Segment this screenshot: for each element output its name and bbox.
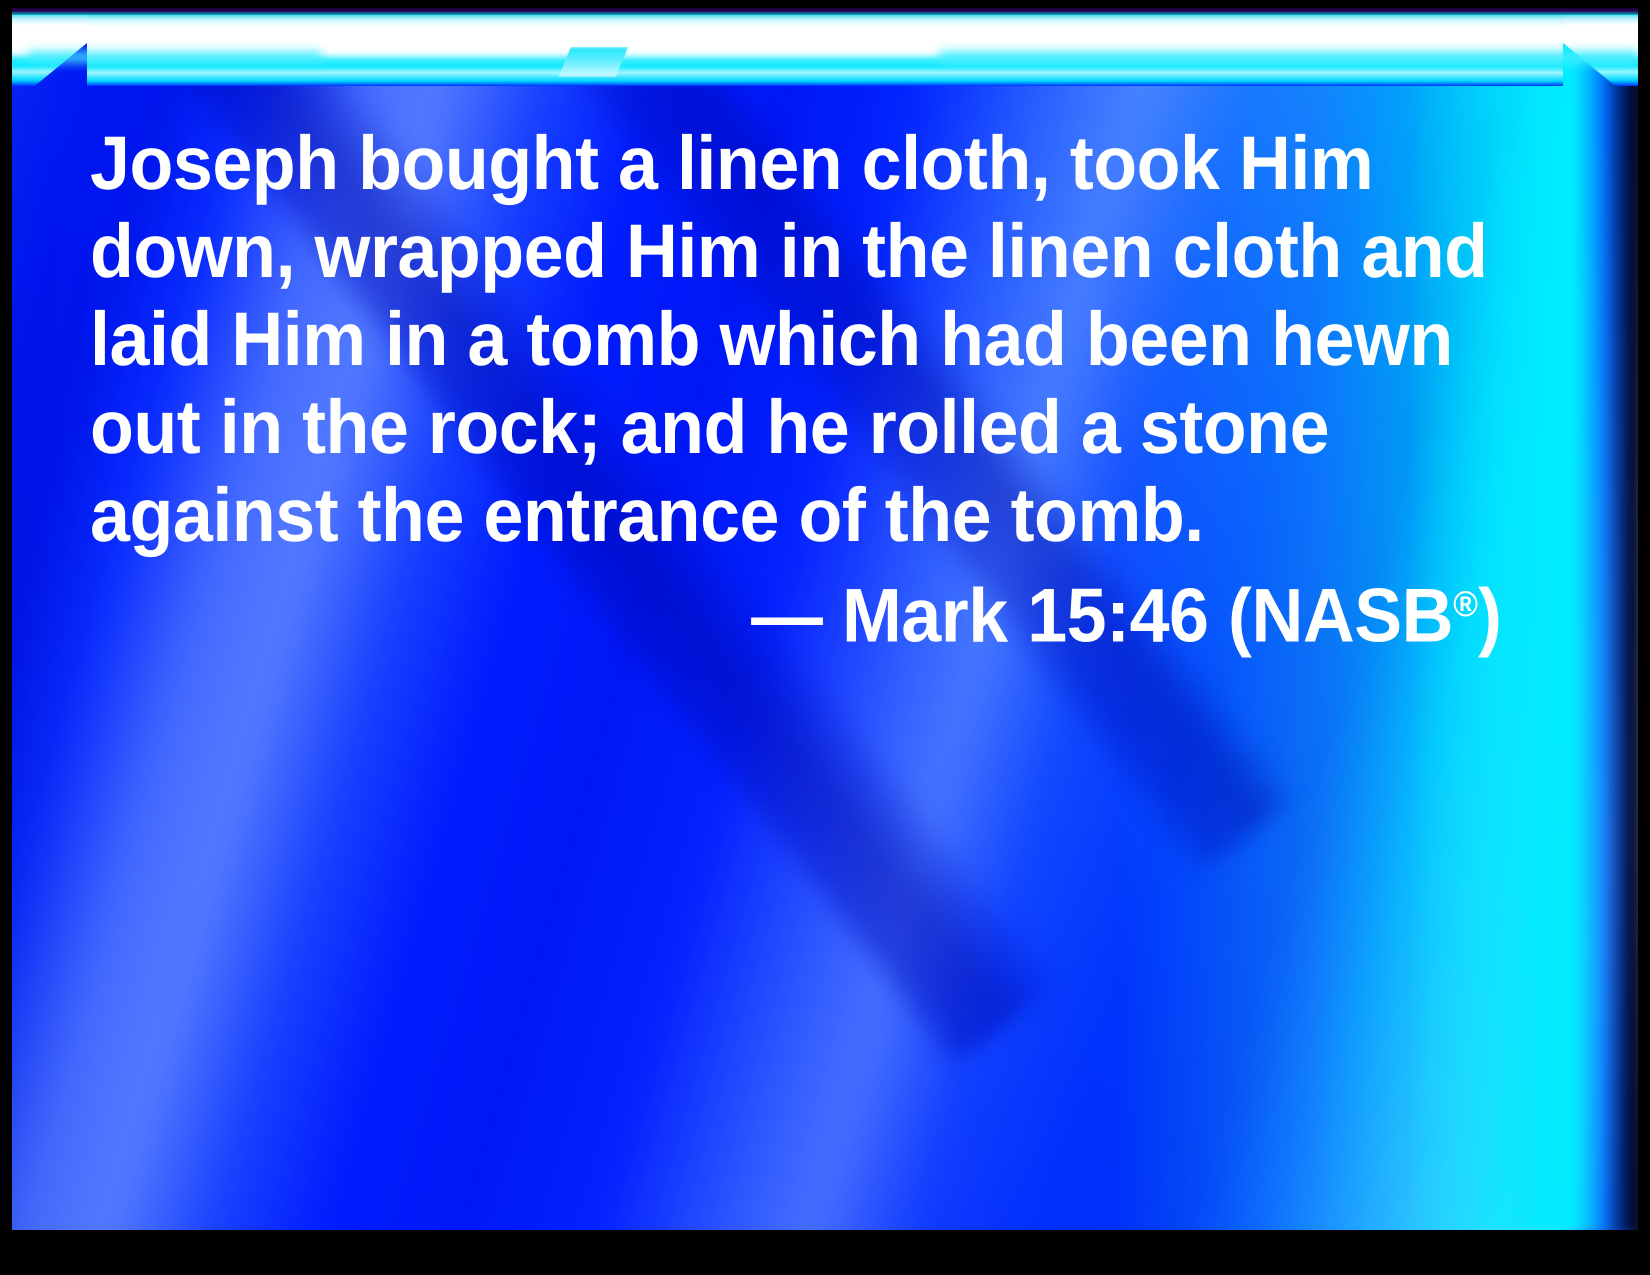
frame-bottom — [0, 1230, 1650, 1275]
verse-attribution: — Mark 15:46 (NASB®) — [171, 560, 1560, 661]
verse-text-block: Joseph bought a linen cloth, took Him do… — [90, 120, 1560, 661]
banner-cyan-wisp-right — [939, 51, 1638, 64]
verse-line-1: Joseph bought a linen cloth, took Him — [90, 120, 1479, 208]
verse-slide: Joseph bought a linen cloth, took Him do… — [12, 8, 1638, 1230]
verse-line-5: against the entrance of the tomb. — [90, 472, 1479, 560]
registered-trademark-icon: ® — [1453, 584, 1478, 624]
verse-line-2: down, wrapped Him in the linen cloth and — [90, 208, 1479, 296]
frame-top — [0, 0, 1650, 8]
frame-left — [0, 0, 12, 1275]
attribution-suffix: ) — [1478, 574, 1501, 659]
top-banner — [12, 8, 1638, 86]
slide-screen: Joseph bought a linen cloth, took Him do… — [0, 0, 1650, 1275]
banner-top-edge-line — [12, 8, 1638, 15]
verse-line-3: laid Him in a tomb which had been hewn — [90, 296, 1479, 384]
verse-line-4: out in the rock; and he rolled a stone — [90, 384, 1479, 472]
frame-right — [1638, 0, 1650, 1275]
banner-cyan-wisp-left — [28, 51, 321, 63]
attribution-prefix: — Mark 15:46 (NASB — [751, 574, 1453, 659]
banner-core — [87, 8, 1563, 86]
